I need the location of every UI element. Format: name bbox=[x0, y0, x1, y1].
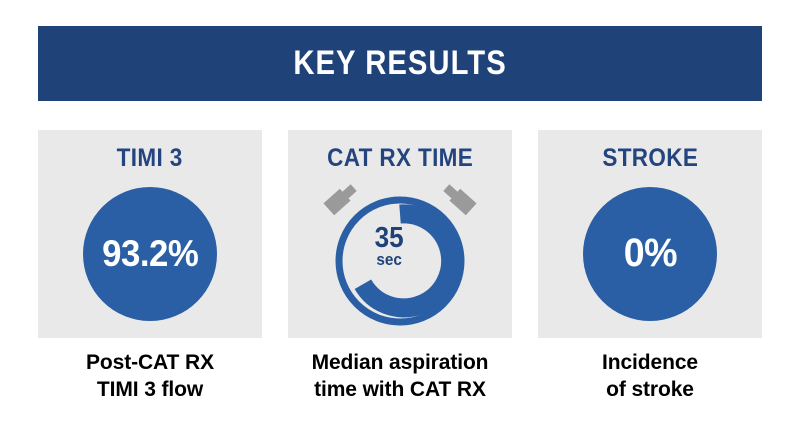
caption-timi-3: Post-CAT RX TIMI 3 flow bbox=[38, 350, 262, 403]
value-label-stroke: 0% bbox=[623, 231, 676, 276]
result-card-timi-3: TIMI 3 93.2% bbox=[38, 130, 262, 338]
caption-timi-3-line2: TIMI 3 flow bbox=[38, 377, 262, 404]
value-circle-timi-3: 93.2% bbox=[83, 187, 217, 321]
result-card-stroke: STROKE 0% bbox=[538, 130, 762, 338]
card-title-timi-3: TIMI 3 bbox=[117, 144, 183, 173]
result-card-cat-rx-time: CAT RX TIME 35 sec bbox=[288, 130, 512, 338]
value-label-timi-3: 93.2% bbox=[102, 233, 198, 275]
stopwatch-dial-icon bbox=[335, 196, 465, 326]
card-figure-timi-3: 93.2% bbox=[38, 173, 262, 338]
caption-stroke: Incidence of stroke bbox=[538, 350, 762, 403]
key-results-infographic: KEY RESULTS TIMI 3 93.2% CAT RX TIME bbox=[0, 0, 800, 434]
results-card-row: TIMI 3 93.2% CAT RX TIME bbox=[38, 130, 762, 338]
card-figure-stroke: 0% bbox=[538, 173, 762, 338]
card-title-cat-rx-time: CAT RX TIME bbox=[327, 144, 473, 173]
header-banner: KEY RESULTS bbox=[38, 26, 762, 101]
caption-timi-3-line1: Post-CAT RX bbox=[38, 350, 262, 377]
caption-row: Post-CAT RX TIMI 3 flow Median aspiratio… bbox=[38, 350, 762, 403]
caption-cat-rx-time-line2: time with CAT RX bbox=[288, 377, 512, 404]
caption-cat-rx-time: Median aspiration time with CAT RX bbox=[288, 350, 512, 403]
page-title: KEY RESULTS bbox=[293, 44, 506, 83]
caption-cat-rx-time-line1: Median aspiration bbox=[288, 350, 512, 377]
card-figure-cat-rx-time: 35 sec bbox=[288, 173, 512, 338]
value-circle-stroke: 0% bbox=[583, 187, 717, 321]
caption-stroke-line1: Incidence bbox=[538, 350, 762, 377]
stopwatch-icon: 35 sec bbox=[324, 182, 476, 326]
caption-stroke-line2: of stroke bbox=[538, 377, 762, 404]
card-title-stroke: STROKE bbox=[602, 144, 698, 173]
